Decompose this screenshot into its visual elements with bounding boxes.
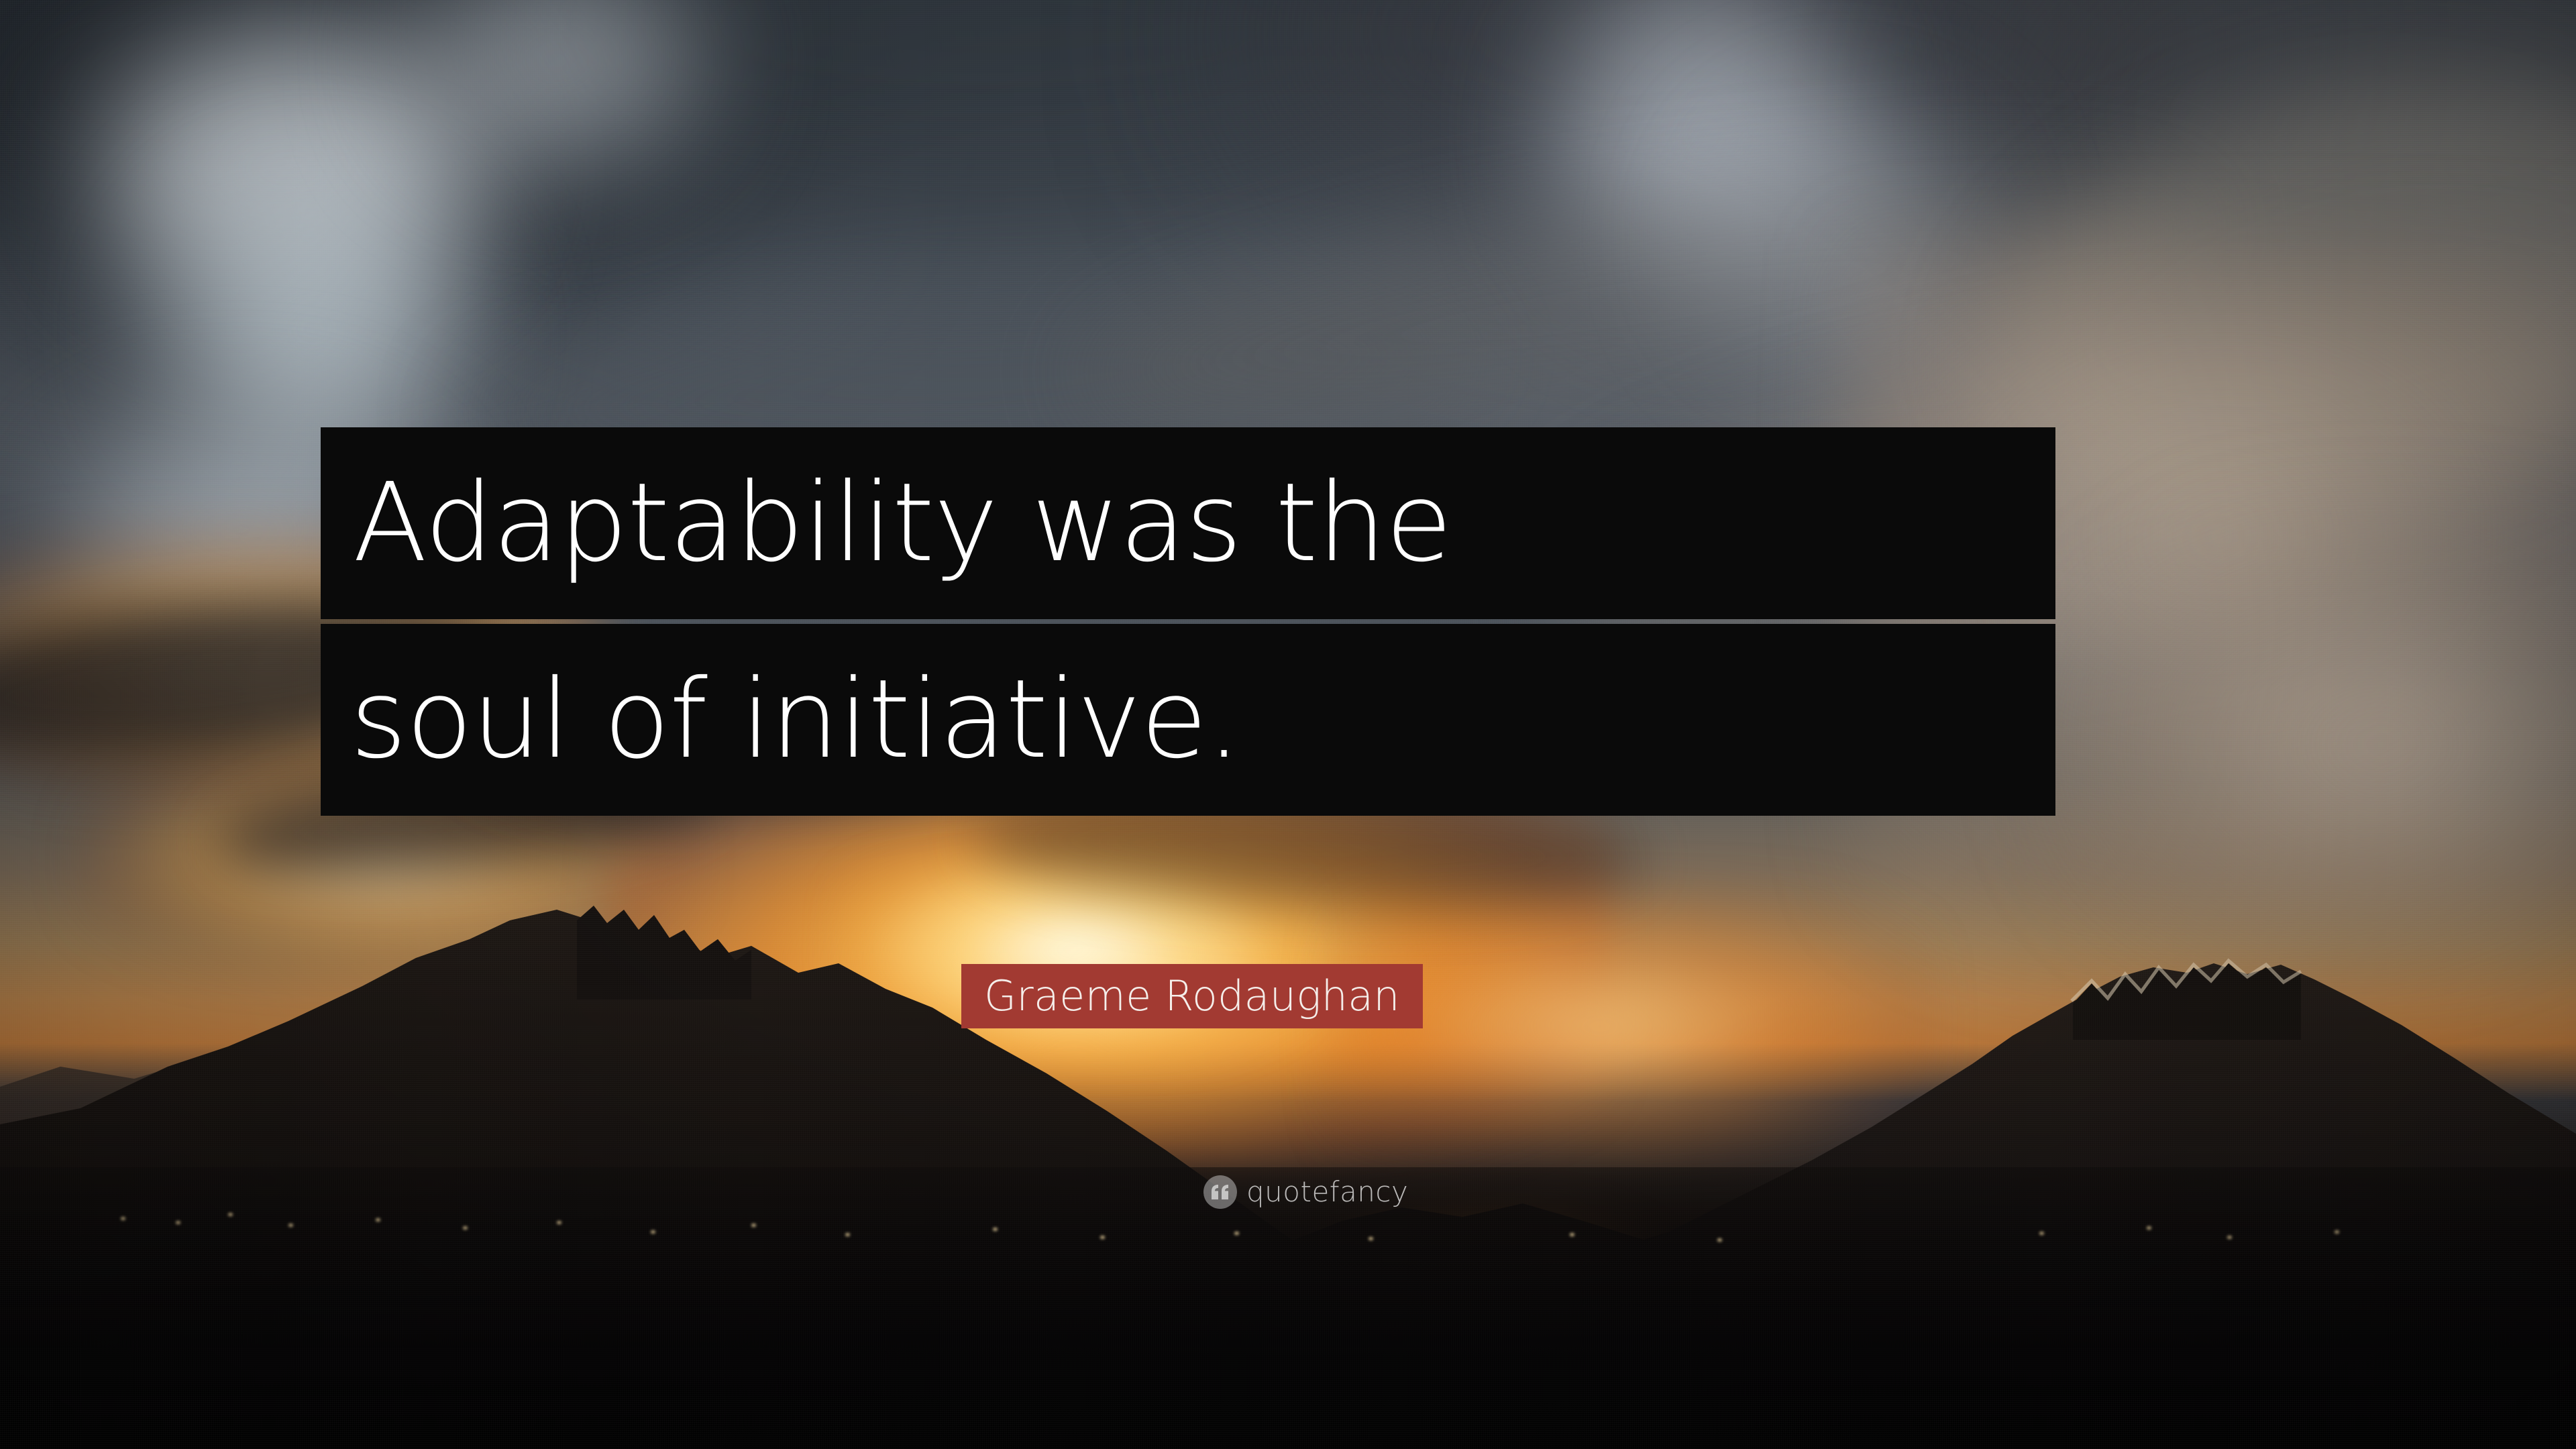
cloud-highlight-left-b xyxy=(168,201,456,456)
quotefancy-watermark[interactable]: quotefancy xyxy=(1203,1175,1408,1209)
quote-text-block: Adaptability was the soul of initiative. xyxy=(321,427,2055,816)
author-attribution-wrap: Graeme Rodaughan xyxy=(961,964,1423,1028)
quote-poster: Adaptability was the soul of initiative.… xyxy=(0,0,2576,1449)
quote-line-2: soul of initiative. xyxy=(321,624,2055,816)
quote-marks-icon xyxy=(1203,1175,1237,1209)
quotefancy-brand-text: quotefancy xyxy=(1246,1178,1408,1206)
author-name: Graeme Rodaughan xyxy=(961,964,1423,1028)
quote-line-1: Adaptability was the xyxy=(321,427,2055,619)
